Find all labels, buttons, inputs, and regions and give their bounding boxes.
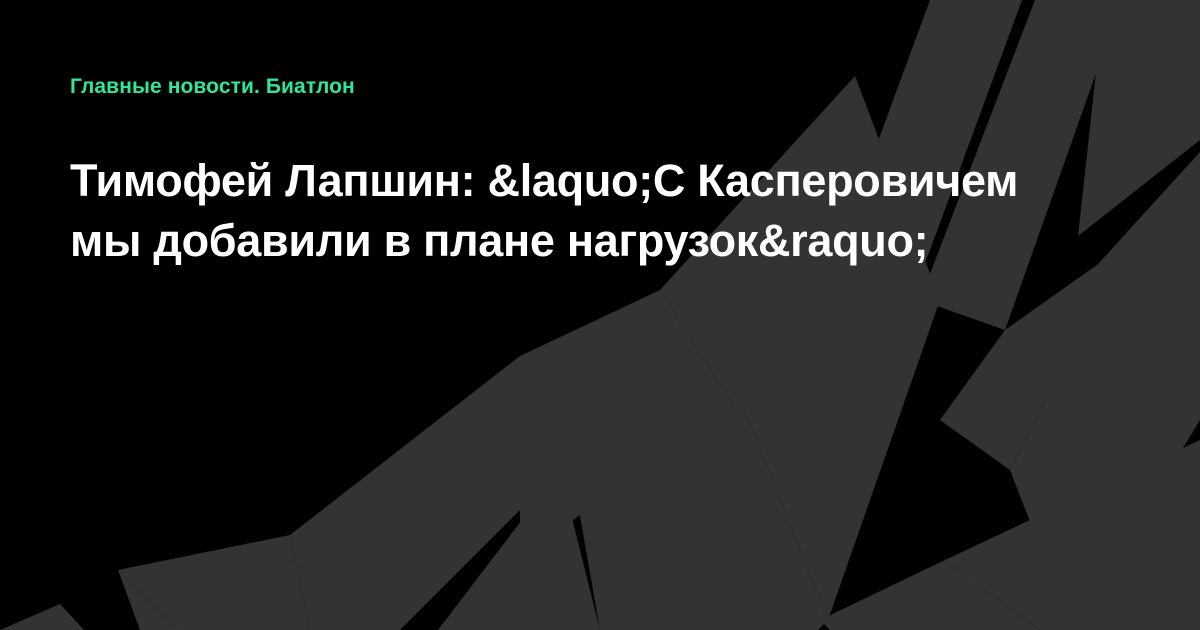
kicker-label: Главные новости. Биатлон — [70, 74, 1130, 99]
card-content: Главные новости. Биатлон Тимофей Лапшин:… — [0, 0, 1200, 271]
share-card: Главные новости. Биатлон Тимофей Лапшин:… — [0, 0, 1200, 630]
page-title: Тимофей Лапшин: &laquo;С Касперовичем мы… — [70, 151, 1030, 271]
